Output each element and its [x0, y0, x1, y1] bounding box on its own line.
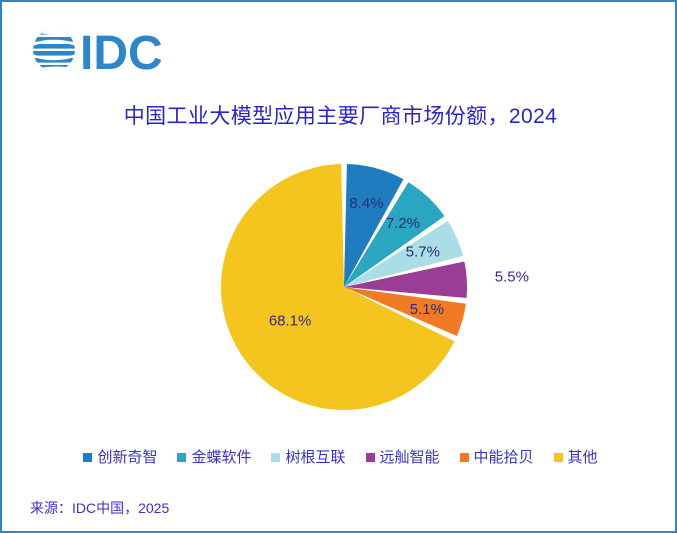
legend-swatch-icon-5 [554, 453, 563, 462]
idc-logo: IDC [30, 24, 190, 76]
pie-slice-label-3: 5.5% [495, 269, 529, 286]
legend-label-1: 金蝶软件 [191, 450, 251, 465]
chart-legend: 创新奇智 金蝶软件 树根互联 远舢智能 中能拾贝 其他 [2, 450, 677, 465]
legend-item-4[interactable]: 中能拾贝 [460, 450, 534, 465]
legend-swatch-icon-3 [366, 453, 375, 462]
chart-page: IDC 中国工业大模型应用主要厂商市场份额，2024 8.4%7.2%5.7%5… [0, 0, 677, 533]
idc-logo-svg: IDC [30, 24, 190, 76]
source-note: 来源：IDC中国，2025 [30, 498, 169, 518]
legend-item-1[interactable]: 金蝶软件 [177, 450, 251, 465]
legend-label-2: 树根互联 [285, 450, 345, 465]
pie-chart: 8.4%7.2%5.7%5.5%5.1%68.1% [2, 142, 677, 432]
pie-slice-label-2: 5.7% [406, 244, 440, 261]
legend-label-5: 其他 [568, 450, 598, 465]
legend-item-0[interactable]: 创新奇智 [83, 450, 157, 465]
pie-slice-label-5: 68.1% [269, 312, 312, 329]
pie-slice-label-0: 8.4% [349, 195, 383, 212]
pie-slice-group [221, 164, 467, 410]
pie-slice-label-4: 5.1% [410, 301, 444, 318]
pie-slice-label-1: 7.2% [386, 215, 420, 232]
legend-item-2[interactable]: 树根互联 [271, 450, 345, 465]
globe-icon [30, 26, 82, 76]
legend-item-3[interactable]: 远舢智能 [366, 450, 440, 465]
legend-swatch-icon-1 [177, 453, 186, 462]
legend-swatch-icon-4 [460, 453, 469, 462]
page-title: 中国工业大模型应用主要厂商市场份额，2024 [2, 100, 677, 130]
legend-label-3: 远舢智能 [380, 450, 440, 465]
legend-label-4: 中能拾贝 [474, 450, 534, 465]
pie-chart-svg: 8.4%7.2%5.7%5.5%5.1%68.1% [2, 142, 677, 432]
legend-item-5[interactable]: 其他 [554, 450, 598, 465]
legend-swatch-icon-0 [83, 453, 92, 462]
idc-logo-text: IDC [80, 27, 163, 76]
legend-swatch-icon-2 [271, 453, 280, 462]
legend-label-0: 创新奇智 [97, 450, 157, 465]
